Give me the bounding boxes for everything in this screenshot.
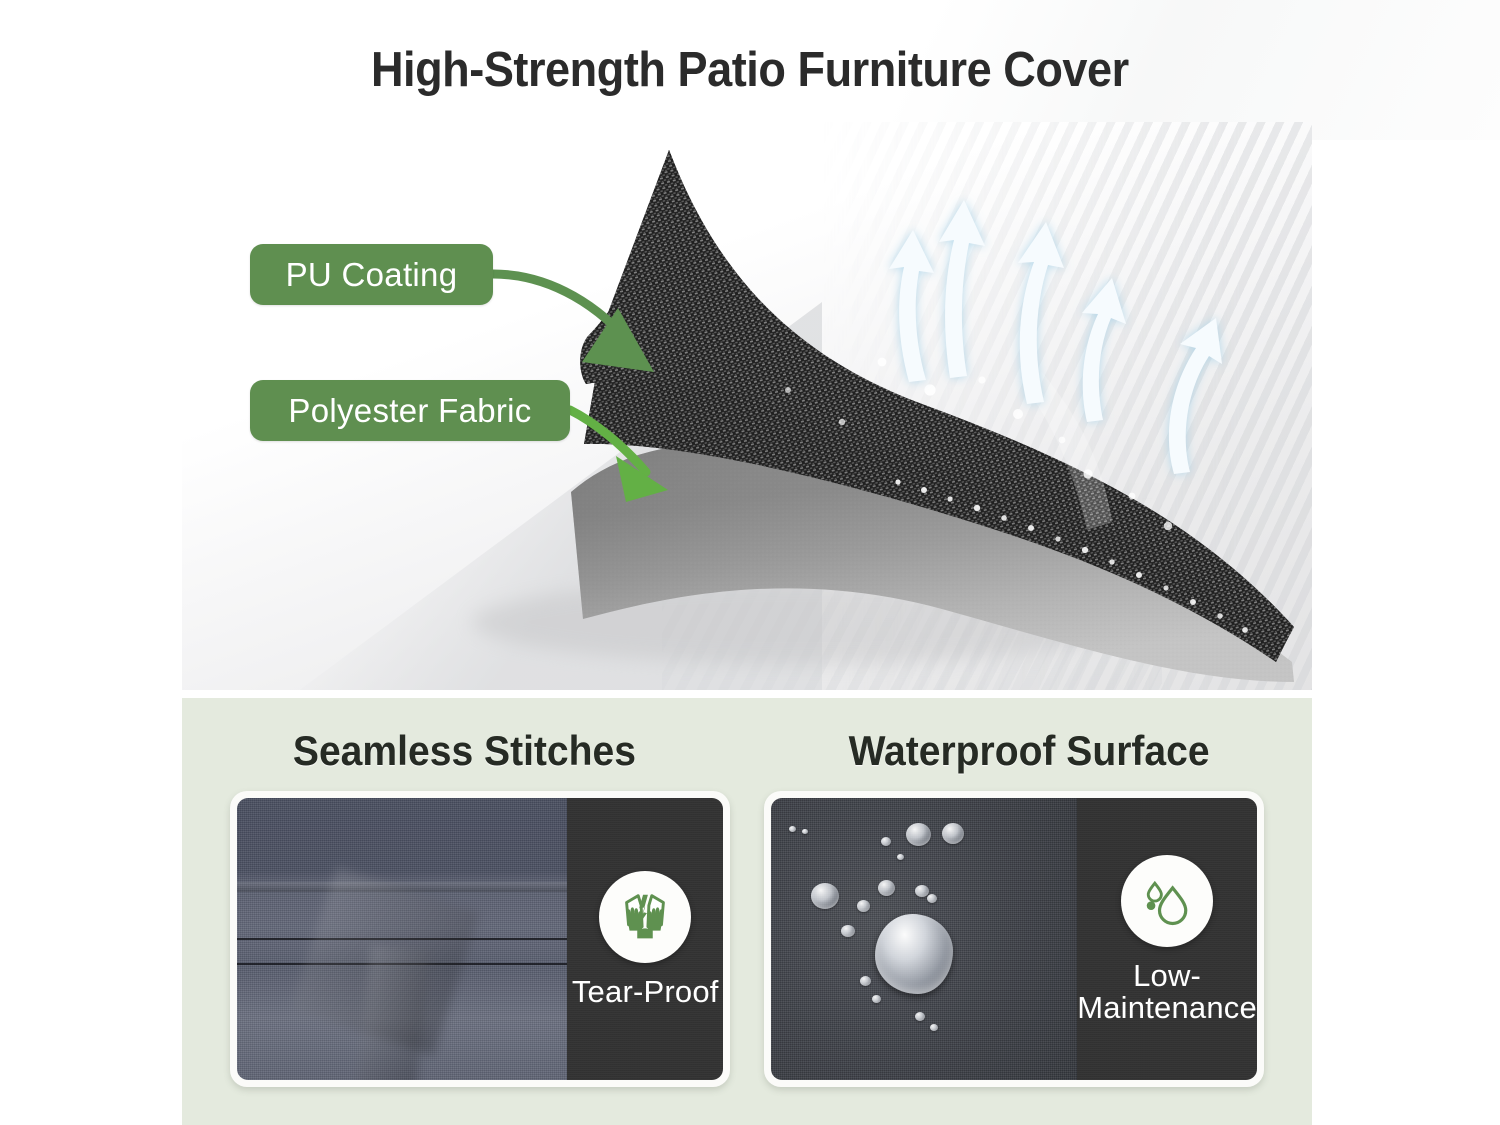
water-bead <box>811 883 839 909</box>
badge-pu-coating[interactable]: PU Coating <box>250 244 493 305</box>
title-bar: High-Strength Patio Furniture Cover <box>0 0 1500 140</box>
breath-arrow-5 <box>1169 318 1222 474</box>
water-droplet-icon <box>1137 871 1197 931</box>
low-maintenance-label-line2: Maintenance <box>1077 992 1257 1024</box>
heading-cell-seamless-stitches: Seamless Stitches <box>182 716 747 786</box>
low-maintenance-label: Low- Maintenance <box>1077 960 1257 1023</box>
panel-low-maintenance: Low- Maintenance <box>1077 798 1257 1080</box>
feature-heading-waterproof-surface: Waterproof Surface <box>849 727 1210 775</box>
badge-pu-coating-label: PU Coating <box>286 256 458 294</box>
water-bead <box>878 880 895 896</box>
feature-card-seamless-stitches[interactable]: Tear-Proof <box>230 791 730 1087</box>
heading-cell-waterproof-surface: Waterproof Surface <box>747 716 1312 786</box>
hero-illustration-panel: PU Coating Polyester Fabric <box>182 122 1312 690</box>
panel-tear-proof: Tear-Proof <box>567 798 723 1080</box>
water-bead <box>897 854 904 860</box>
water-bead <box>906 823 931 846</box>
features-section: Seamless Stitches Waterproof Surface <box>182 698 1312 1125</box>
water-bead <box>802 829 808 834</box>
water-bead <box>860 976 871 986</box>
tear-proof-label-line1: Tear-Proof <box>572 974 719 1009</box>
low-maintenance-label-line1: Low- <box>1077 960 1257 992</box>
breath-arrow-2 <box>939 200 985 378</box>
water-bead <box>930 1024 938 1031</box>
tear-proof-hands <box>627 907 664 938</box>
breath-arrow-4 <box>1082 278 1126 422</box>
feature-heading-seamless-stitches: Seamless Stitches <box>293 727 636 775</box>
large-water-droplet <box>875 914 953 994</box>
feature-cards-row: Tear-Proof <box>182 791 1312 1087</box>
water-bead <box>857 900 870 912</box>
tear-proof-icon <box>614 886 676 948</box>
page-title: High-Strength Patio Furniture Cover <box>371 42 1129 98</box>
tear-proof-label: Tear-Proof <box>572 976 719 1008</box>
badge-polyester-fabric-label: Polyester Fabric <box>288 392 531 430</box>
infographic-page: High-Strength Patio Furniture Cover <box>0 0 1500 1125</box>
breath-arrow-1 <box>889 230 934 382</box>
photo-water-beading-fabric-closeup <box>771 798 1077 1080</box>
tear-proof-icon-circle <box>599 871 691 963</box>
water-bead <box>927 894 937 903</box>
badge-polyester-fabric[interactable]: Polyester Fabric <box>250 380 570 441</box>
water-droplet-icon-circle <box>1121 855 1213 947</box>
features-headings: Seamless Stitches Waterproof Surface <box>182 716 1312 786</box>
feature-card-waterproof-surface[interactable]: Low- Maintenance <box>764 791 1264 1087</box>
photo-stitched-fabric-closeup <box>237 798 567 1080</box>
